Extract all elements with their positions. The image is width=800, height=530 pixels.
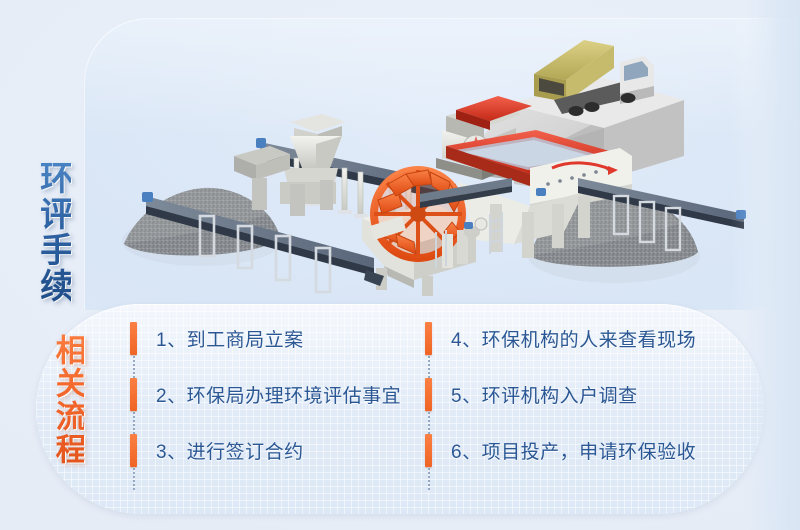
process-column-left: 1、到工商局立案 2、环保局办理环境评估事宜 3、进行签订合约	[130, 304, 385, 514]
list-item-label: 4、环保机构的人来查看现场	[451, 325, 696, 352]
page-canvas: 环评手续 1、到工商局立案 2、环保局办理环境评估事宜 3、进行签订合约	[0, 0, 800, 530]
list-item-label: 3、进行签订合约	[156, 437, 304, 464]
section-title-process: 相关流程	[52, 334, 84, 466]
section-title-eia: 环评手续	[36, 160, 71, 304]
process-list-panel: 1、到工商局立案 2、环保局办理环境评估事宜 3、进行签订合约 4、环保机构的人…	[36, 304, 764, 514]
list-item[interactable]: 3、进行签订合约	[130, 432, 304, 468]
list-item[interactable]: 5、环评机构入户调查	[425, 376, 638, 412]
list-item[interactable]: 4、环保机构的人来查看现场	[425, 320, 696, 356]
bullet-bar-icon	[130, 434, 137, 467]
illustration-panel	[84, 18, 800, 310]
list-item[interactable]: 6、项目投产，申请环保验收	[425, 432, 696, 468]
bullet-bar-icon	[425, 378, 432, 411]
bullet-bar-icon	[130, 322, 137, 355]
list-item-label: 6、项目投产，申请环保验收	[451, 437, 696, 464]
production-line-illustration	[84, 18, 800, 310]
bullet-bar-icon	[425, 322, 432, 355]
list-item[interactable]: 1、到工商局立案	[130, 320, 304, 356]
bullet-bar-icon	[130, 378, 137, 411]
list-item-label: 1、到工商局立案	[156, 325, 304, 352]
list-item-label: 2、环保局办理环境评估事宜	[156, 381, 401, 408]
list-item-label: 5、环评机构入户调查	[451, 381, 638, 408]
bullet-bar-icon	[425, 434, 432, 467]
process-column-right: 4、环保机构的人来查看现场 5、环评机构入户调查 6、项目投产，申请环保验收	[425, 304, 725, 514]
list-item[interactable]: 2、环保局办理环境评估事宜	[130, 376, 401, 412]
